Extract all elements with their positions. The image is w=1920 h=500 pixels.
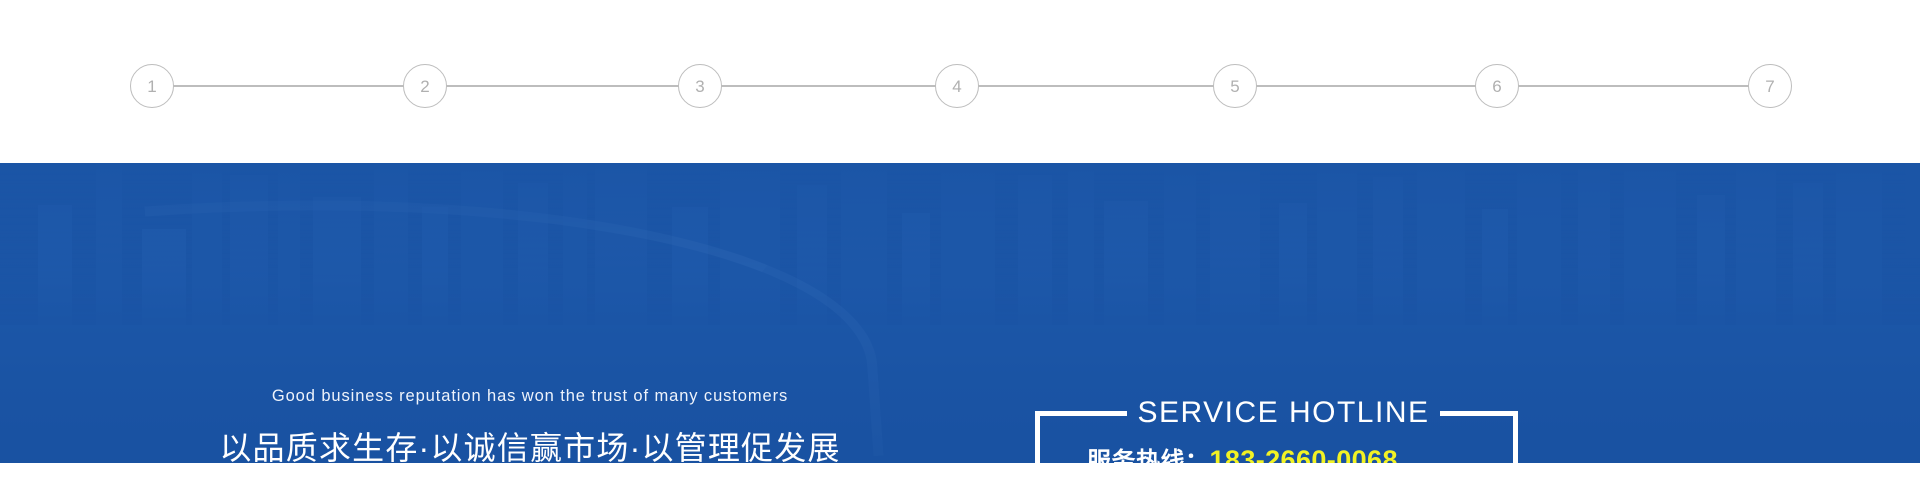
step-node-6[interactable]: 6 [1475,64,1519,108]
step-label: 2 [420,78,429,95]
step-node-5[interactable]: 5 [1213,64,1257,108]
page-root: 1 2 3 4 5 6 7 [0,0,1920,500]
step-label: 5 [1230,78,1239,95]
step-node-2[interactable]: 2 [403,64,447,108]
hotline-frame-top-right-border [1440,411,1518,416]
service-hotline-card: SERVICE HOTLINE 服务热线： 183-2660-0068 0551… [1035,411,1518,463]
step-node-4[interactable]: 4 [935,64,979,108]
hotline-row-primary: 服务热线： 183-2660-0068 [1087,447,1518,463]
step-label: 7 [1765,78,1774,95]
step-node-1[interactable]: 1 [130,64,174,108]
slogan-english-tagline: Good business reputation has won the tru… [0,387,1060,406]
hotline-frame-top-left-border [1035,411,1127,416]
slogan-main-heading: 以品质求生存·以诚信赢市场·以管理促发展 [0,423,1060,463]
step-node-7[interactable]: 7 [1748,64,1792,108]
hotline-number-primary[interactable]: 183-2660-0068 [1210,447,1398,463]
blue-banner: Good business reputation has won the tru… [0,163,1920,463]
step-label: 6 [1492,78,1501,95]
service-hotline-title: SERVICE HOTLINE [1127,394,1440,432]
step-label: 4 [952,78,961,95]
step-label: 3 [695,78,704,95]
slogan-block: Good business reputation has won the tru… [0,387,1060,463]
hotline-label: 服务热线： [1087,450,1210,463]
step-node-3[interactable]: 3 [678,64,722,108]
hotline-numbers-group: 服务热线： 183-2660-0068 0551-63749777 [1035,447,1518,463]
step-label: 1 [147,78,156,95]
